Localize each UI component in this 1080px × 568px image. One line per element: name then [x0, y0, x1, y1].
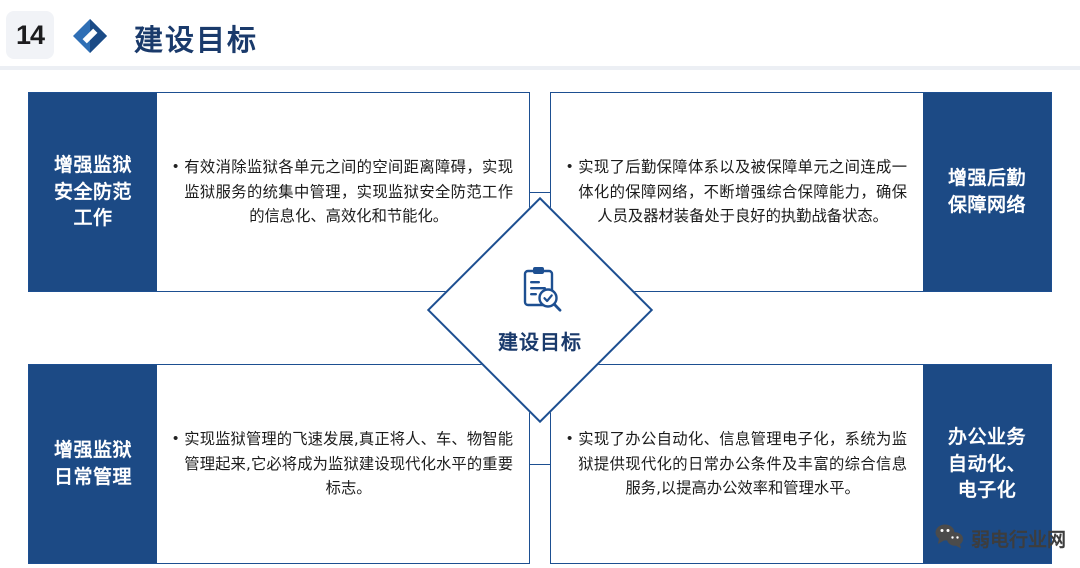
label-line: 安全防范 [54, 181, 132, 203]
quadrant-label-top-right: 增强后勤 保障网络 [923, 93, 1051, 291]
slide-number: 14 [16, 20, 44, 51]
label-line: 增强监狱 [54, 439, 132, 461]
label-line: 电子化 [958, 479, 1017, 501]
center-label: 建设目标 [498, 326, 582, 355]
page-title: 建设目标 [134, 17, 258, 59]
label-line: 工作 [73, 207, 112, 229]
quadrant-text-bottom-right: 实现了办公自动化、信息管理电子化，系统为监狱提供现代化的日常办公条件及丰富的综合… [578, 427, 907, 501]
quadrant-text-bottom-left: 实现监狱管理的飞速发展,真正将人、车、物智能管理起来,它必将成为监狱建设现代化水… [184, 427, 513, 501]
label-line: 增强监狱 [54, 154, 132, 176]
bullet-marker: • [173, 155, 178, 178]
label-line: 增强后勤 [948, 167, 1026, 189]
connector-bottom [530, 464, 552, 465]
quadrant-label-top-left: 增强监狱 安全防范 工作 [29, 93, 157, 291]
bullet-marker: • [567, 427, 572, 450]
bullet-marker: • [173, 427, 178, 450]
label-line: 办公业务 [948, 426, 1026, 448]
watermark-text: 弱电行业网 [971, 525, 1066, 552]
clipboard-check-search-icon [517, 265, 563, 318]
watermark: 弱电行业网 [934, 523, 1066, 554]
slide-number-badge: 14 [6, 11, 54, 59]
slide-header: 14 建设目标 [0, 0, 1080, 70]
bullet-marker: • [567, 155, 572, 178]
center-diamond: 建设目标 [432, 202, 648, 418]
diamond-logo-icon [70, 16, 110, 56]
header-divider [0, 66, 1080, 70]
label-line: 保障网络 [948, 194, 1026, 216]
slide-root: 14 建设目标 增强监狱 安全防范 工作 • 有效消除监狱各单元之间的空间 [0, 0, 1080, 568]
bullet-row: • 实现了办公自动化、信息管理电子化，系统为监狱提供现代化的日常办公条件及丰富的… [567, 427, 907, 501]
label-line: 日常管理 [54, 466, 132, 488]
wechat-icon [934, 523, 964, 554]
diamond-content: 建设目标 [432, 202, 648, 418]
quadrant-label-bottom-left: 增强监狱 日常管理 [29, 365, 157, 563]
bullet-row: • 实现监狱管理的飞速发展,真正将人、车、物智能管理起来,它必将成为监狱建设现代… [173, 427, 513, 501]
label-line: 自动化、 [948, 453, 1026, 475]
connector-top [530, 192, 552, 193]
